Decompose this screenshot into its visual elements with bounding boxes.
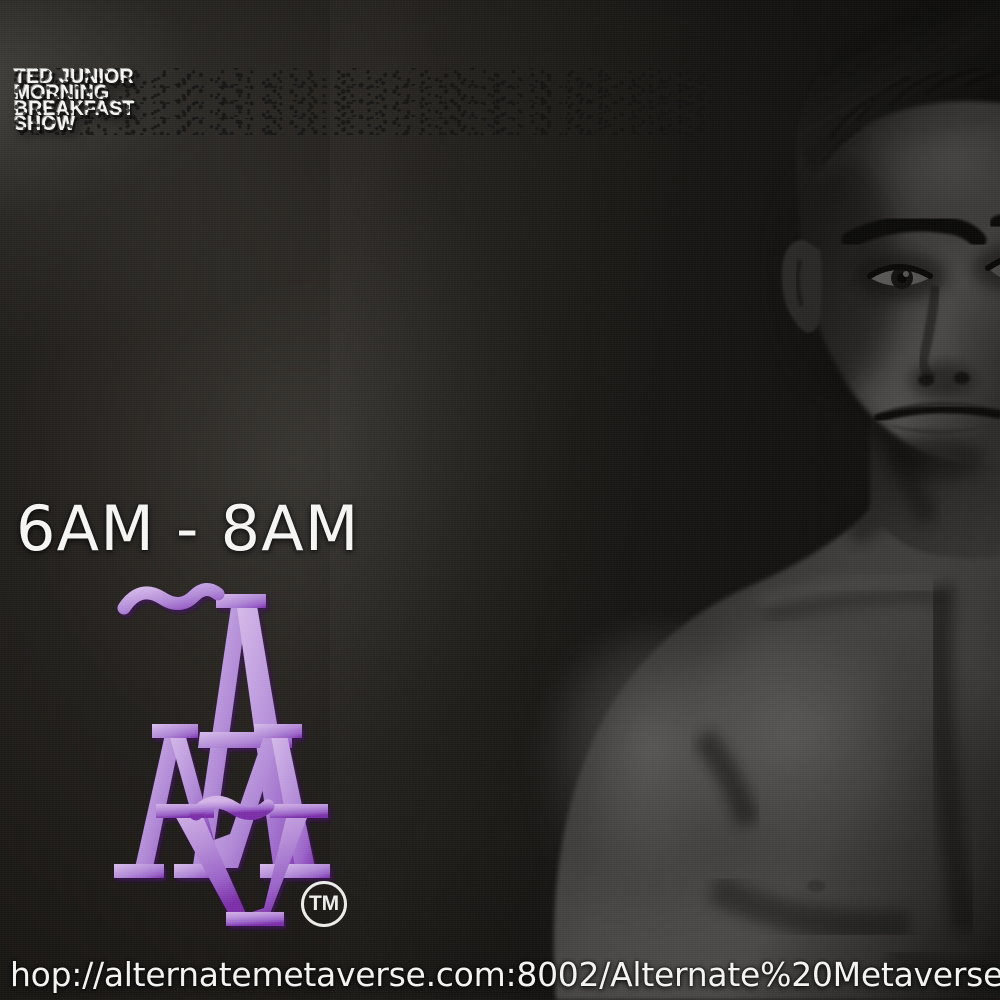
hop-url-text[interactable]: hop://alternatemetaverse.com:8002/Altern… bbox=[10, 955, 1000, 994]
show-title-block: TED JUNIOR MORNING BREAKFAST SHOW bbox=[14, 68, 734, 135]
trademark-label: TM bbox=[309, 893, 339, 914]
poster-canvas: TED JUNIOR MORNING BREAKFAST SHOW 6AM - … bbox=[0, 0, 1000, 1000]
alternate-metaverse-logo bbox=[88, 572, 388, 932]
title-line-4: SHOW bbox=[14, 115, 712, 135]
trademark-badge: TM bbox=[301, 881, 347, 927]
show-time: 6AM - 8AM bbox=[16, 492, 360, 565]
hop-url-bar[interactable]: hop://alternatemetaverse.com:8002/Altern… bbox=[0, 955, 1000, 994]
